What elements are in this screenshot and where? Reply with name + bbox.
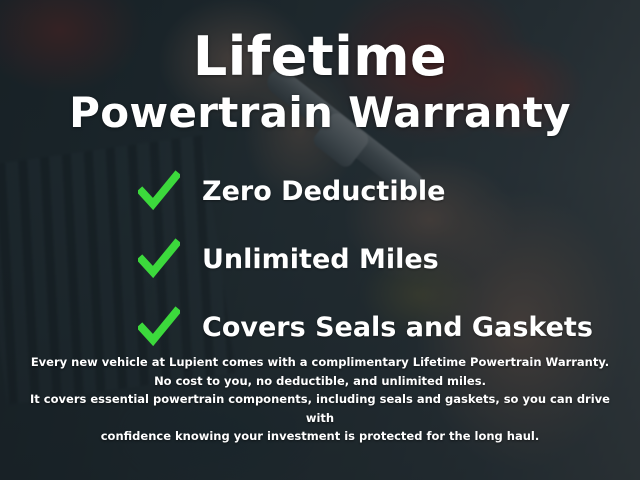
body-copy: Every new vehicle at Lupient comes with … <box>0 353 640 446</box>
check-icon <box>138 306 180 348</box>
feature-label: Unlimited Miles <box>202 244 439 275</box>
body-copy-line-1: Every new vehicle at Lupient comes with … <box>24 353 616 372</box>
feature-label: Covers Seals and Gaskets <box>202 312 593 343</box>
body-copy-line-3: It covers essential powertrain component… <box>24 390 616 427</box>
body-copy-line-2: No cost to you, no deductible, and unlim… <box>24 372 616 391</box>
headline-primary: Lifetime <box>193 30 447 84</box>
check-icon <box>138 238 180 280</box>
warranty-banner: Lifetime Powertrain Warranty Zero Deduct… <box>0 0 640 480</box>
feature-item-zero-deductible: Zero Deductible <box>70 170 570 212</box>
headline-secondary: Powertrain Warranty <box>69 92 571 134</box>
banner-content: Lifetime Powertrain Warranty Zero Deduct… <box>0 0 640 480</box>
check-icon <box>138 170 180 212</box>
feature-label: Zero Deductible <box>202 176 446 207</box>
body-copy-line-4: confidence knowing your investment is pr… <box>24 427 616 446</box>
feature-list: Zero Deductible Unlimited Miles Covers S… <box>0 170 640 348</box>
feature-item-covers-seals-and-gaskets: Covers Seals and Gaskets <box>70 306 570 348</box>
feature-item-unlimited-miles: Unlimited Miles <box>70 238 570 280</box>
